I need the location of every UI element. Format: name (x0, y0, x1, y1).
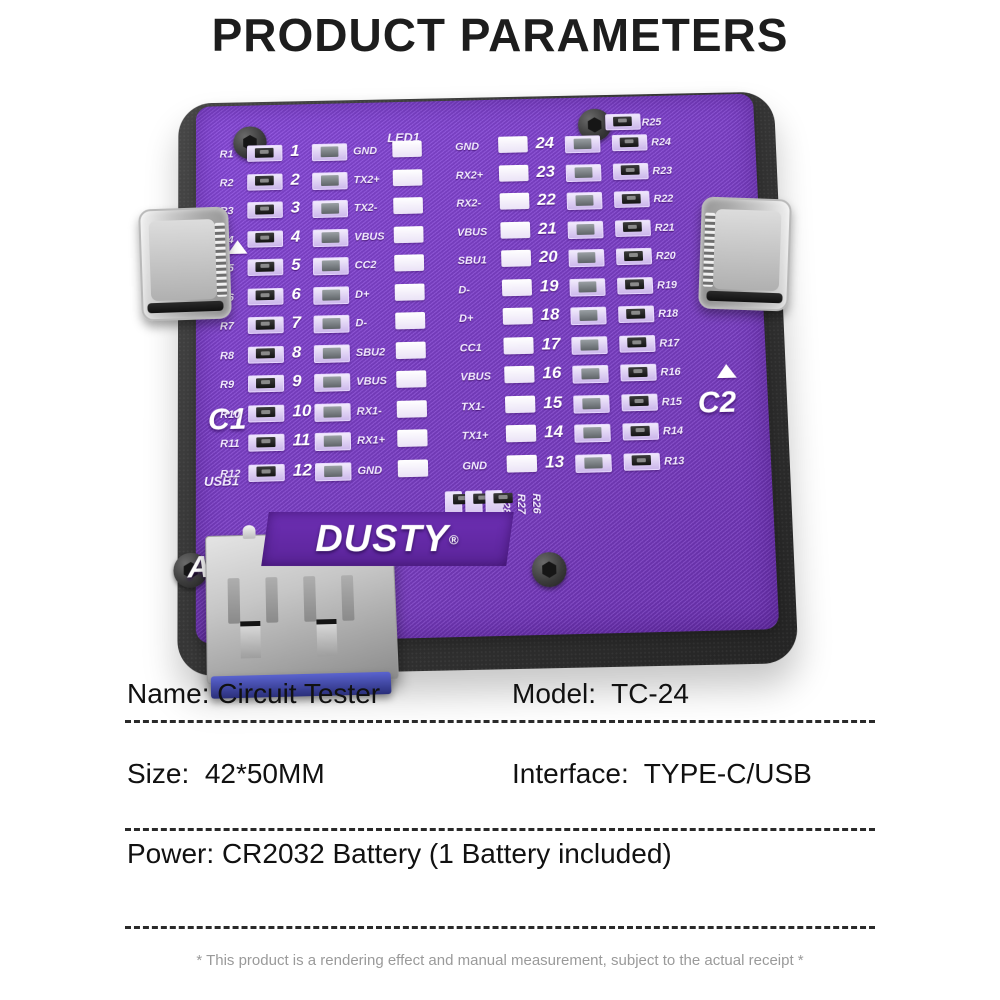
ref-label-R23: R23 (652, 165, 672, 177)
usb-a-slot-4 (341, 575, 355, 621)
signal-label-left-3: VBUS (354, 230, 384, 242)
ref-label-R12: R12 (220, 468, 240, 481)
pin-number-12: 12 (293, 460, 312, 481)
pin-number-11: 11 (292, 430, 310, 451)
led-4 (313, 228, 349, 246)
signal-label-left-10: RX1+ (357, 434, 385, 447)
pad-left-2 (393, 169, 423, 186)
product-image: LED1 USB1 R25 C1 C2 A R11GNDR22TX2+R33TX… (0, 60, 1000, 660)
signal-label-left-4: CC2 (355, 259, 377, 271)
ref-label-R15: R15 (661, 395, 682, 407)
pin-number-24: 24 (535, 134, 554, 154)
pad-right-18 (503, 307, 533, 324)
usb-c-left-face (148, 219, 217, 301)
led-21 (567, 220, 603, 238)
pad-right-23 (499, 164, 529, 181)
pad-right-22 (500, 193, 530, 210)
resistor-R14 (622, 423, 659, 441)
led-5 (313, 257, 349, 275)
led-18 (570, 307, 606, 326)
signal-label-right-2: RX2- (456, 198, 481, 210)
pin-number-15: 15 (543, 392, 563, 412)
ref-label-R20: R20 (656, 250, 676, 262)
spec-row-power: Power: CR2032 Battery (1 Battery include… (0, 828, 1000, 880)
pad-left-3 (393, 197, 423, 214)
signal-label-left-2: TX2- (354, 202, 378, 214)
ref-label-R25: R25 (641, 117, 661, 129)
pad-right-17 (503, 336, 533, 354)
led-15 (573, 394, 610, 413)
pin-number-22: 22 (537, 190, 556, 210)
usb-c-right-lip (706, 291, 782, 304)
marker-triangle-c2 (716, 364, 737, 378)
spec-model: Model: TC-24 (512, 678, 689, 710)
usb-c-left-pins (215, 223, 228, 297)
signal-label-left-11: GND (357, 464, 382, 477)
signal-label-right-1: RX2+ (456, 169, 484, 181)
pad-right-14 (506, 425, 537, 443)
signal-label-left-1: TX2+ (353, 174, 379, 186)
signal-label-right-4: SBU1 (458, 255, 487, 267)
pad-left-11 (397, 429, 428, 447)
signal-label-left-6: D- (355, 317, 367, 329)
ref-label-R11: R11 (220, 438, 240, 451)
resistor-R5 (248, 259, 284, 276)
pad-left-4 (394, 226, 424, 243)
ref-label-R14: R14 (663, 425, 684, 438)
usb-a-tab-1 (243, 525, 256, 539)
spec-row-size-interface: Size: 42*50MM Interface: TYPE-C/USB (0, 748, 1000, 800)
pin-number-6: 6 (291, 284, 301, 304)
resistor-R11 (248, 434, 284, 452)
spec-table: Name: Circuit Tester Model: TC-24 Size: … (0, 668, 1000, 880)
pin-number-19: 19 (539, 276, 558, 296)
signal-label-right-9: TX1- (461, 400, 485, 413)
pin-number-5: 5 (291, 255, 301, 275)
ref-label-R26: R26 (530, 493, 543, 514)
led-9 (314, 373, 350, 392)
ref-label-R19: R19 (657, 279, 678, 291)
usb-c-left-lip (147, 301, 223, 314)
led-17 (571, 336, 608, 355)
pin-number-23: 23 (536, 162, 555, 182)
pin-number-21: 21 (538, 219, 557, 239)
brand-logo: DUSTY® (265, 512, 510, 566)
resistor-R23 (613, 162, 649, 179)
pad-right-24 (498, 136, 528, 153)
pad-left-1 (392, 140, 422, 157)
usb-a-tongue-1 (240, 621, 261, 659)
usb-c-connector-right (698, 196, 792, 311)
spec-divider-3 (125, 926, 875, 929)
led-10 (314, 403, 350, 422)
resistor-R24 (612, 134, 648, 151)
led-16 (572, 365, 609, 384)
disclaimer-note: * This product is a rendering effect and… (0, 952, 1000, 969)
pin-number-8: 8 (292, 342, 302, 362)
pad-right-16 (504, 366, 534, 384)
signal-label-right-10: TX1+ (462, 430, 489, 443)
pad-left-7 (395, 312, 425, 329)
ref-label-R9: R9 (220, 379, 234, 391)
ref-label-R16: R16 (660, 366, 681, 378)
led-24 (565, 135, 601, 153)
resistor-R20 (616, 248, 652, 265)
resistor-R21 (615, 219, 651, 236)
led-1 (312, 143, 348, 161)
product-parameters-page: PRODUCT PARAMETERS LED1 USB1 R25 C1 C2 A… (0, 0, 1000, 1000)
resistor-R6 (248, 287, 284, 305)
ref-label-R17: R17 (659, 337, 680, 349)
ref-label-R2: R2 (220, 177, 234, 189)
pin-number-17: 17 (541, 334, 560, 354)
spec-interface: Interface: TYPE-C/USB (512, 758, 812, 790)
resistor-R2 (247, 173, 283, 190)
page-title: PRODUCT PARAMETERS (0, 8, 1000, 62)
signal-label-left-7: SBU2 (356, 346, 385, 359)
resistor-R1 (247, 145, 282, 162)
pin-number-14: 14 (544, 422, 564, 443)
resistor-R25 (605, 113, 641, 130)
spec-power: Power: CR2032 Battery (1 Battery include… (127, 838, 672, 870)
spec-divider-1 (125, 720, 875, 723)
ref-label-R18: R18 (658, 308, 679, 320)
pad-left-10 (397, 400, 427, 418)
resistor-R7 (248, 316, 284, 334)
resistor-R15 (621, 393, 658, 411)
led-23 (566, 163, 602, 181)
pad-right-20 (501, 250, 531, 267)
pin-number-7: 7 (292, 313, 302, 333)
pin-number-10: 10 (292, 400, 311, 420)
led-13 (575, 453, 612, 472)
resistor-R17 (619, 335, 656, 353)
resistor-R8 (248, 345, 284, 363)
ref-label-R27: R27 (515, 493, 528, 514)
led-14 (574, 424, 611, 443)
resistor-R4 (247, 230, 283, 247)
pad-left-12 (398, 459, 429, 477)
ref-label-R22: R22 (653, 193, 673, 205)
pad-left-5 (394, 254, 424, 271)
signal-label-right-6: D+ (459, 313, 474, 325)
screw-bottom-right (531, 552, 567, 588)
pin-number-3: 3 (291, 198, 301, 218)
pin-number-1: 1 (290, 141, 299, 160)
signal-label-right-3: VBUS (457, 226, 487, 238)
led-11 (315, 432, 351, 451)
pin-number-20: 20 (539, 247, 558, 267)
pin-number-13: 13 (545, 452, 565, 473)
signal-label-left-0: GND (353, 145, 377, 157)
signal-label-right-5: D- (458, 284, 470, 296)
spec-size: Size: 42*50MM (127, 758, 325, 790)
resistor-R16 (620, 364, 657, 382)
usb-a-slot-3 (303, 576, 316, 622)
pin-number-9: 9 (292, 371, 302, 391)
usb-a-tongue-2 (316, 619, 337, 657)
resistor-R13 (623, 452, 660, 470)
led-12 (315, 462, 352, 481)
pad-left-6 (395, 283, 425, 300)
port-label-c2: C2 (697, 386, 737, 421)
signal-label-right-7: CC1 (460, 342, 482, 354)
resistor-R10 (248, 404, 284, 422)
pad-right-15 (505, 395, 536, 413)
led-7 (313, 315, 349, 334)
spec-name: Name: Circuit Tester (127, 678, 380, 710)
ref-label-R21: R21 (654, 221, 674, 233)
registered-mark: ® (449, 532, 460, 547)
pad-right-21 (500, 221, 530, 238)
signal-label-right-8: VBUS (460, 371, 491, 384)
pin-number-18: 18 (540, 305, 559, 325)
pad-right-13 (506, 454, 537, 472)
brand-band: DUSTY® (261, 512, 514, 566)
signal-label-left-9: RX1- (357, 405, 382, 418)
ref-label-R24: R24 (651, 136, 671, 148)
resistor-R22 (614, 191, 650, 208)
resistor-R19 (617, 277, 653, 295)
pin-number-2: 2 (290, 170, 299, 189)
usb-a-slot-2 (265, 577, 278, 623)
resistor-R9 (248, 375, 284, 393)
signal-label-right-0: GND (455, 141, 479, 153)
led-22 (567, 192, 603, 210)
pin-number-16: 16 (542, 363, 562, 383)
usb-c-connector-left (138, 206, 232, 321)
spec-row-name-model: Name: Circuit Tester Model: TC-24 (0, 668, 1000, 720)
ref-label-R13: R13 (664, 455, 685, 468)
brand-name: DUSTY (315, 518, 449, 561)
ref-label-R1: R1 (220, 149, 234, 161)
usb-a-slot-1 (228, 578, 241, 624)
signal-label-left-5: D+ (355, 288, 369, 300)
led-2 (312, 171, 348, 189)
resistor-R18 (618, 305, 654, 323)
ref-label-R8: R8 (220, 350, 234, 362)
ref-label-R10: R10 (220, 408, 240, 421)
led-20 (568, 249, 604, 267)
ref-label-R7: R7 (220, 321, 234, 333)
pad-left-8 (396, 341, 426, 359)
pin-number-4: 4 (291, 227, 301, 247)
signal-label-right-11: GND (462, 459, 487, 472)
led-19 (569, 278, 605, 296)
resistor-R12 (248, 463, 284, 481)
signal-label-left-8: VBUS (356, 375, 387, 388)
usb-c-right-face (713, 209, 782, 291)
pad-right-19 (502, 278, 532, 295)
led-6 (313, 286, 349, 305)
resistor-R3 (247, 201, 283, 218)
pad-left-9 (396, 370, 426, 388)
led-3 (312, 200, 348, 218)
led-8 (314, 344, 350, 363)
